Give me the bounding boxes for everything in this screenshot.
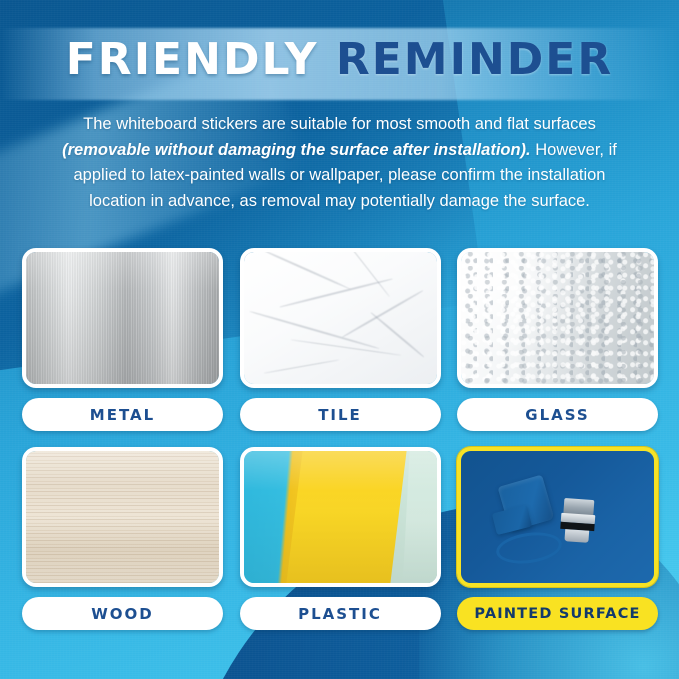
surface-thumbnail-glass xyxy=(457,248,658,388)
surface-label-tile: TILE xyxy=(240,398,441,431)
surface-grid: METAL xyxy=(22,248,658,646)
surface-row-bottom: WOOD PLASTIC xyxy=(22,447,658,630)
surface-card-plastic[interactable]: PLASTIC xyxy=(240,447,441,630)
metal-texture xyxy=(26,252,219,384)
plastic-texture xyxy=(244,451,437,583)
surface-thumbnail-metal xyxy=(22,248,223,388)
content-layer: FRIENDLY REMINDER The whiteboard sticker… xyxy=(0,0,679,679)
promo-banner: FRIENDLY REMINDER The whiteboard sticker… xyxy=(0,0,679,679)
surface-card-painted-surface[interactable]: PAINTED SURFACE xyxy=(457,447,658,630)
paint-ring-icon xyxy=(494,528,564,567)
wood-texture xyxy=(26,451,219,583)
surface-card-metal[interactable]: METAL xyxy=(22,248,223,431)
title-word-friendly: FRIENDLY xyxy=(66,34,319,85)
body-segment-1: The whiteboard stickers are suitable for… xyxy=(83,115,596,133)
plastic-mint-band xyxy=(401,447,441,587)
surface-card-glass[interactable]: GLASS xyxy=(457,248,658,431)
surface-thumbnail-wood xyxy=(22,447,223,587)
surface-thumbnail-painted-surface xyxy=(457,447,658,587)
brush-handle xyxy=(565,529,590,543)
surface-card-wood[interactable]: WOOD xyxy=(22,447,223,630)
paint-can-lid-icon xyxy=(492,505,532,535)
body-paragraph: The whiteboard stickers are suitable for… xyxy=(48,112,631,214)
page-title: FRIENDLY REMINDER xyxy=(0,33,679,87)
glass-texture xyxy=(461,252,654,384)
surface-thumbnail-tile xyxy=(240,248,441,388)
surface-label-metal: METAL xyxy=(22,398,223,431)
surface-label-plastic: PLASTIC xyxy=(240,597,441,630)
surface-row-top: METAL xyxy=(22,248,658,431)
surface-card-tile[interactable]: TILE xyxy=(240,248,441,431)
surface-thumbnail-plastic xyxy=(240,447,441,587)
body-segment-emphasis: (removable without damaging the surface … xyxy=(62,141,531,159)
plastic-yellow-band xyxy=(283,447,409,587)
title-word-reminder: REMINDER xyxy=(336,34,613,85)
surface-label-glass: GLASS xyxy=(457,398,658,431)
surface-label-wood: WOOD xyxy=(22,597,223,630)
paint-brush-icon xyxy=(560,497,597,539)
tile-texture xyxy=(244,252,437,384)
painted-surface-texture xyxy=(461,451,654,583)
surface-label-painted-surface: PAINTED SURFACE xyxy=(457,597,658,630)
